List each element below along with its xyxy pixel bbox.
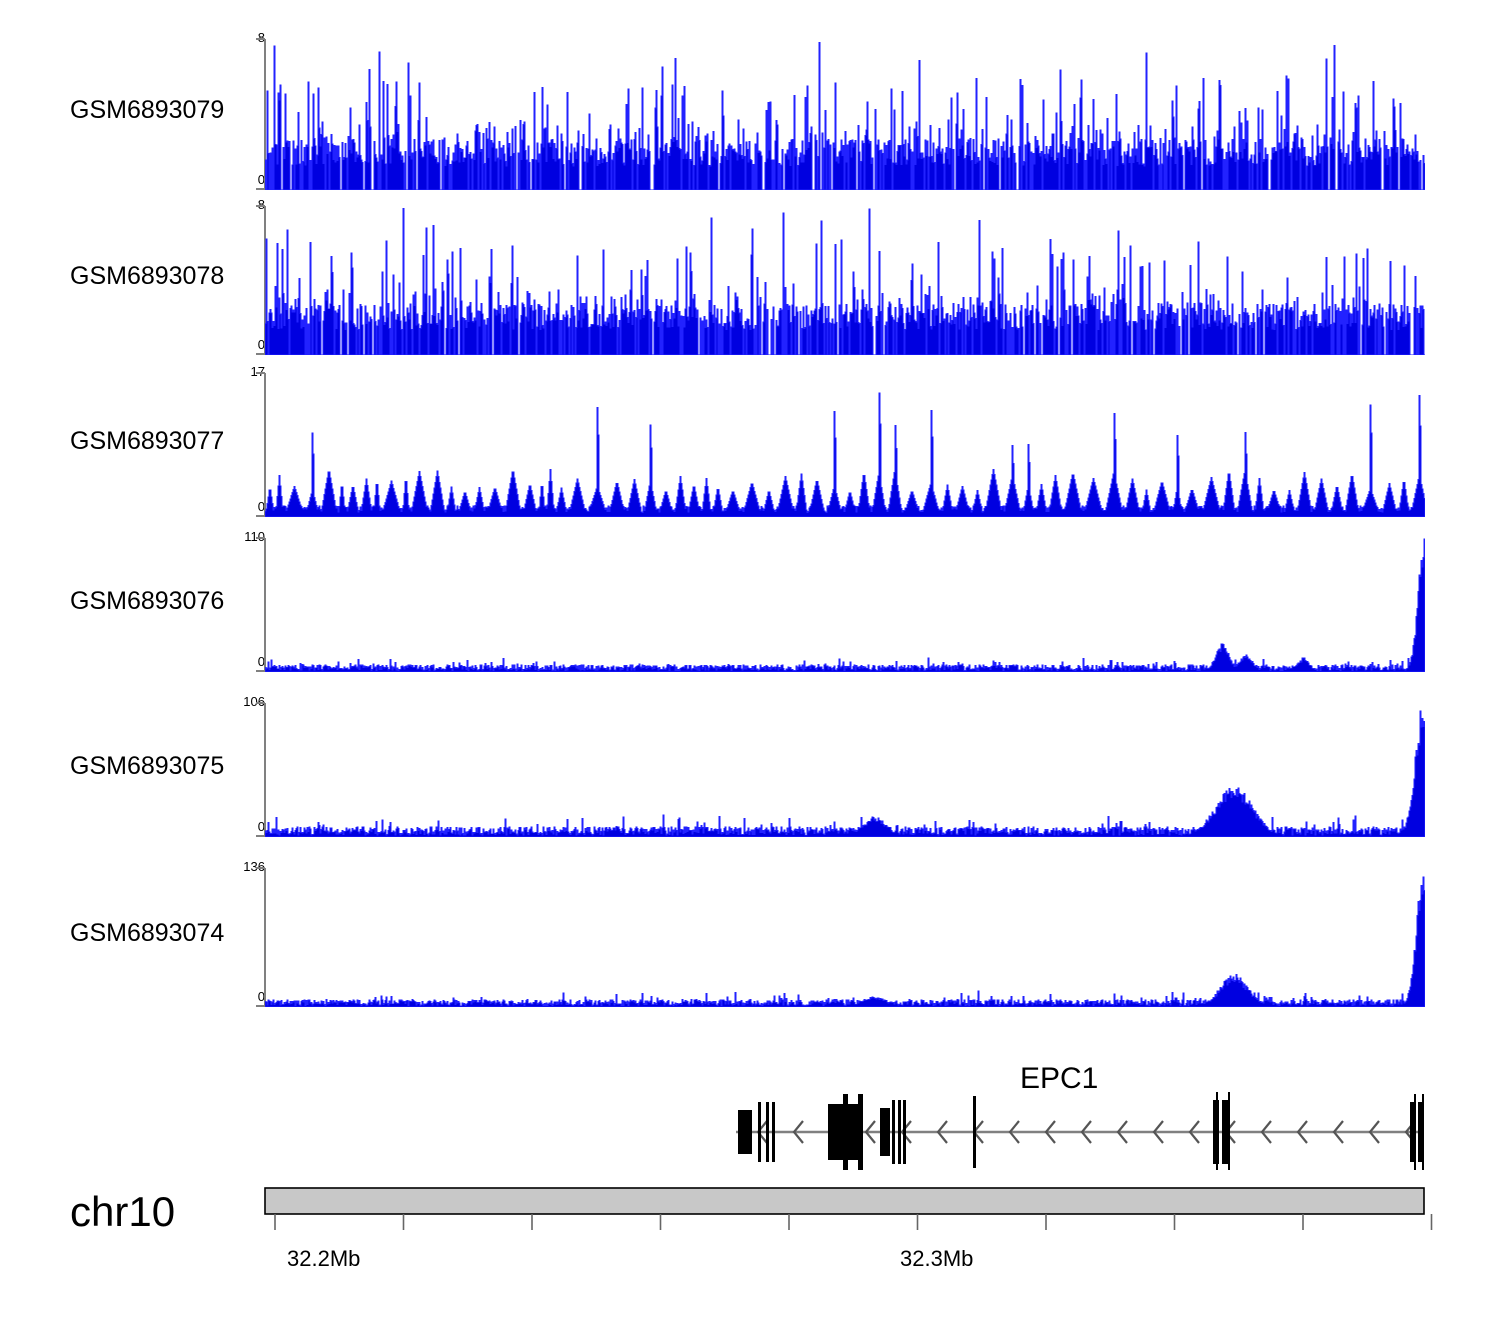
signal-plot-GSM6893078[interactable]	[265, 205, 1425, 355]
signal-plot-GSM6893079[interactable]	[265, 38, 1425, 190]
y-axis-spine	[248, 38, 266, 190]
gene-model-track[interactable]: EPC1	[0, 1090, 1500, 1170]
axis-tick-label-2: 32.3Mb	[900, 1246, 973, 1272]
signal-track-GSM6893079[interactable]: GSM689307980	[0, 38, 1500, 190]
signal-plot-GSM6893075[interactable]	[265, 702, 1425, 837]
gene-model-svg	[0, 1090, 1500, 1170]
signal-track-GSM6893078[interactable]: GSM689307880	[0, 205, 1500, 355]
signal-track-GSM6893075[interactable]: GSM68930751060	[0, 702, 1500, 837]
signal-track-GSM6893077[interactable]: GSM6893077170	[0, 372, 1500, 517]
signal-plot-GSM6893076[interactable]	[265, 537, 1425, 672]
signal-track-GSM6893074[interactable]: GSM68930741360	[0, 867, 1500, 1007]
y-axis-spine	[248, 537, 266, 672]
y-axis-spine	[248, 867, 266, 1007]
chromosome-axis-track[interactable]: chr1032.2Mb32.3Mb	[0, 1186, 1500, 1306]
y-axis-spine	[248, 372, 266, 517]
signal-plot-GSM6893077[interactable]	[265, 372, 1425, 517]
signal-plot-GSM6893074[interactable]	[265, 867, 1425, 1007]
y-axis-spine	[248, 702, 266, 837]
signal-track-GSM6893076[interactable]: GSM68930761100	[0, 537, 1500, 672]
axis-tick-label-1: 32.2Mb	[287, 1246, 360, 1272]
y-axis-spine	[248, 205, 266, 355]
genome-browser: GSM689307980GSM689307880GSM6893077170GSM…	[0, 0, 1500, 1320]
ideogram-svg	[0, 1186, 1500, 1306]
